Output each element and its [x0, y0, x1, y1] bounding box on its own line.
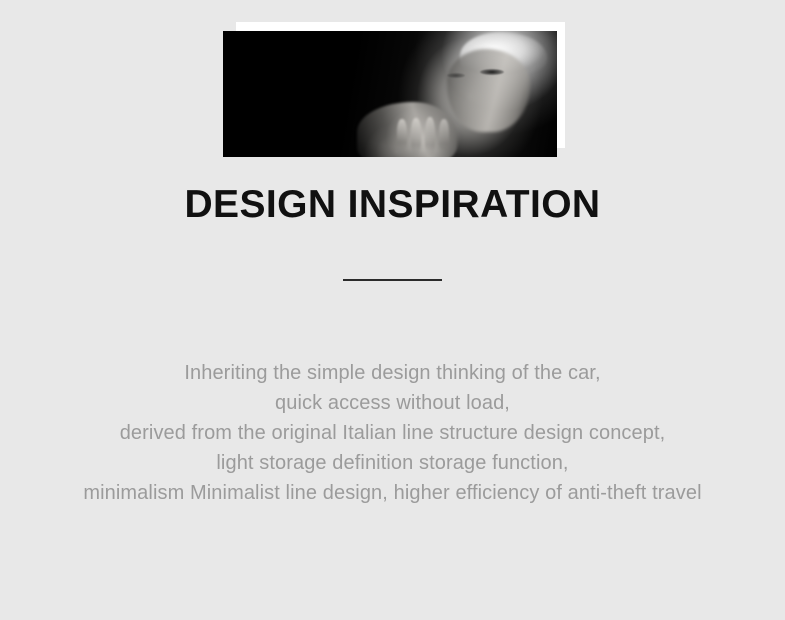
description-line: quick access without load, — [0, 388, 785, 418]
hero-image-block — [0, 0, 785, 170]
section-title: DESIGN INSPIRATION — [0, 183, 785, 227]
description-line: derived from the original Italian line s… — [0, 418, 785, 448]
divider-container — [0, 272, 785, 288]
design-inspiration-banner: DESIGN INSPIRATION Inheriting the simple… — [0, 0, 785, 620]
description-line: minimalism Minimalist line design, highe… — [0, 478, 785, 508]
divider-rule — [343, 279, 442, 281]
description-line: Inheriting the simple design thinking of… — [0, 358, 785, 388]
description-line: light storage definition storage functio… — [0, 448, 785, 478]
portrait-photo — [223, 31, 557, 157]
description-text: Inheriting the simple design thinking of… — [0, 358, 785, 508]
photo-vignette — [223, 31, 557, 157]
